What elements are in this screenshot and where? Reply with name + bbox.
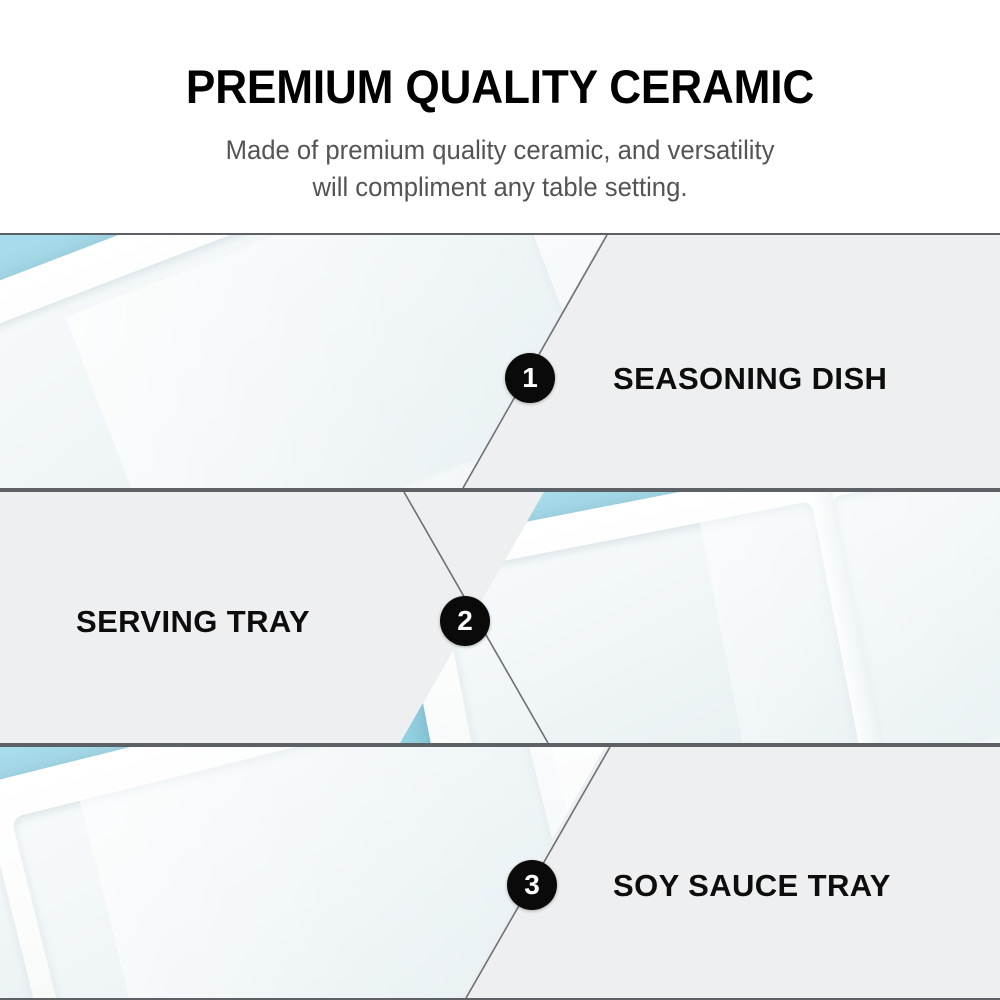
page-subtitle-line-2: will compliment any table setting. <box>25 169 975 206</box>
product-photo-2 <box>400 492 1000 743</box>
header: PREMIUM QUALITY CERAMIC Made of premium … <box>0 0 1000 235</box>
step-badge-2: 2 <box>440 596 490 646</box>
panel-label-soy-sauce-tray: SOY SAUCE TRAY <box>613 868 891 904</box>
step-badge-number-1: 1 <box>522 364 538 392</box>
step-badge-number-3: 3 <box>524 871 540 899</box>
feature-panel-seasoning-dish: 1 SEASONING DISH <box>0 233 1000 490</box>
panel-label-serving-tray: SERVING TRAY <box>76 604 310 640</box>
step-badge-number-2: 2 <box>457 607 473 635</box>
infographic-page: PREMIUM QUALITY CERAMIC Made of premium … <box>0 0 1000 1000</box>
panel-label-seasoning-dish: SEASONING DISH <box>613 361 887 397</box>
step-badge-3: 3 <box>507 860 557 910</box>
step-badge-1: 1 <box>505 353 555 403</box>
page-subtitle-line-1: Made of premium quality ceramic, and ver… <box>25 132 975 169</box>
feature-panel-soy-sauce-tray: 3 SOY SAUCE TRAY <box>0 745 1000 1000</box>
page-title: PREMIUM QUALITY CERAMIC <box>30 62 970 113</box>
tray-sheen-2 <box>693 492 1000 743</box>
photo-backdrop-2 <box>400 492 1000 743</box>
page-subtitle: Made of premium quality ceramic, and ver… <box>25 132 975 207</box>
feature-panel-serving-tray: 2 SERVING TRAY <box>0 490 1000 745</box>
